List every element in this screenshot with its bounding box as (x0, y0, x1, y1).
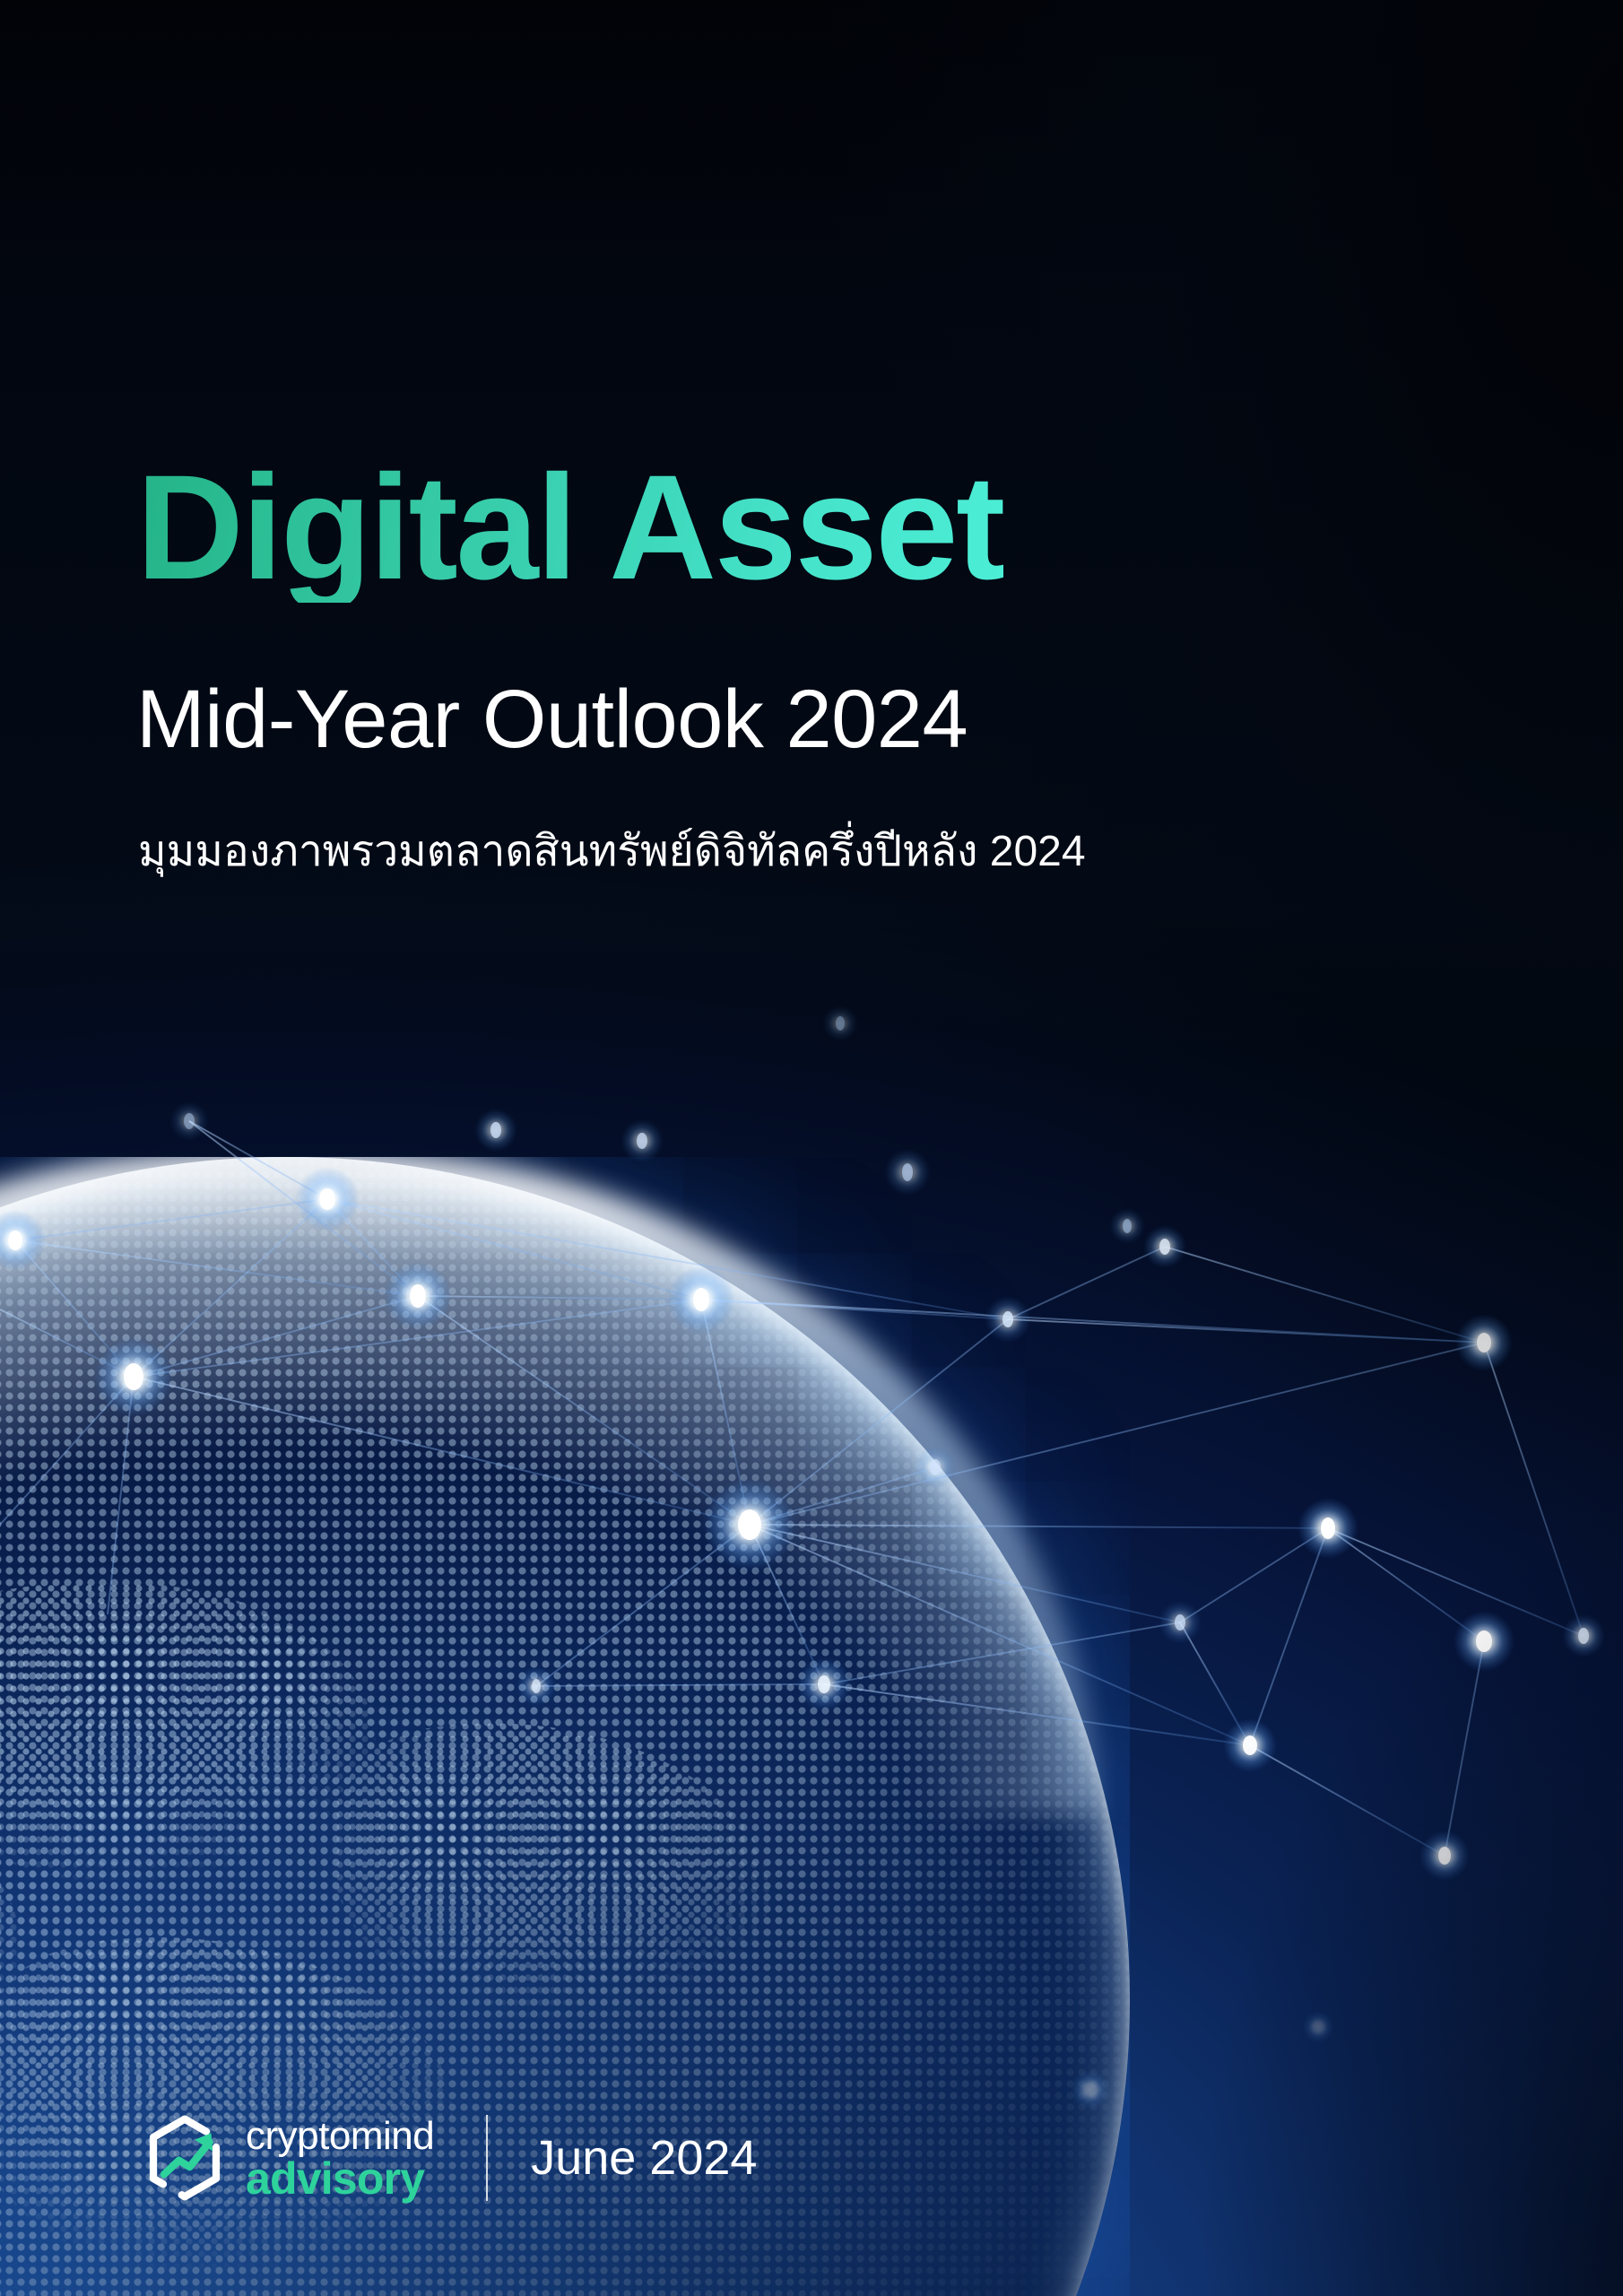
page-subtitle: Mid-Year Outlook 2024 (136, 678, 968, 761)
publication-date: June 2024 (531, 2130, 757, 2186)
cover-footer: cryptomind advisory June 2024 (143, 2108, 757, 2208)
hexagon-growth-chart-icon (143, 2115, 226, 2201)
bottom-right-dark-overlay (1121, 1489, 1623, 2296)
logo-wordmark: cryptomind advisory (246, 2115, 434, 2201)
page-title: Digital Asset (136, 454, 1003, 603)
logo-word-cryptomind: cryptomind (246, 2117, 434, 2155)
logo-word-advisory: advisory (246, 2157, 434, 2201)
cover-page: Digital Asset Mid-Year Outlook 2024 มุมม… (0, 0, 1623, 2296)
cryptomind-advisory-logo: cryptomind advisory (143, 2115, 434, 2201)
page-subtitle-thai: มุมมองภาพรวมตลาดสินทรัพย์ดิจิทัลครึ่งปีห… (138, 825, 1086, 879)
vertical-divider (486, 2115, 488, 2201)
